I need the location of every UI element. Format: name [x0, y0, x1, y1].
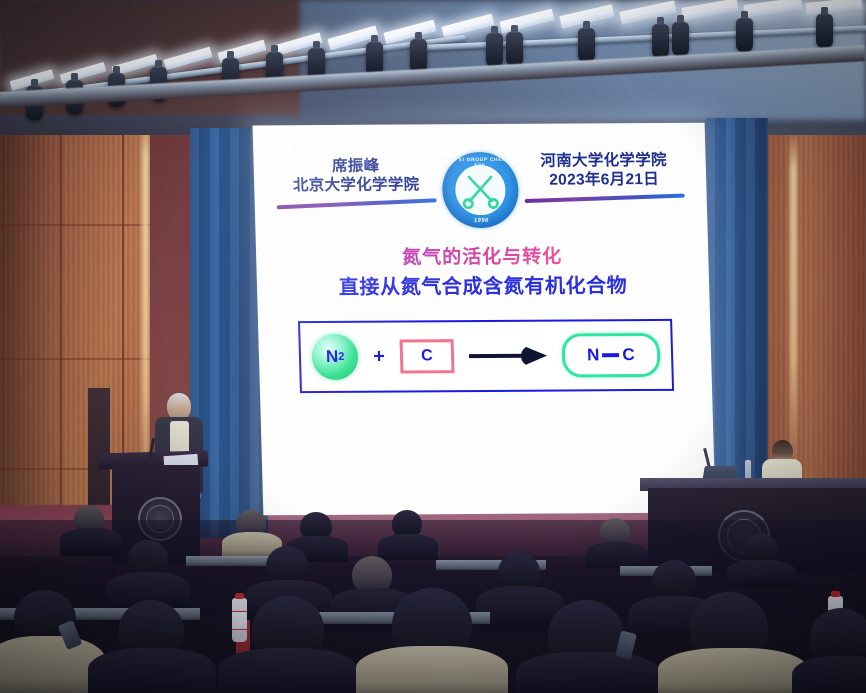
reaction-arrow-icon [469, 349, 547, 363]
n2-label: N [326, 347, 339, 367]
lecture-hall-photo: 席振峰 北京大学化学学院 PKU XI GROUP CHEM IS TRY 19… [0, 0, 866, 693]
nc-c-label: C [622, 345, 635, 365]
header-rule-left [277, 199, 437, 210]
slide-title-main: 氮气的活化与转化 [256, 241, 709, 271]
reaction-equation-box: N2 + C N C [298, 319, 674, 393]
presentation-slide: 席振峰 北京大学化学学院 PKU XI GROUP CHEM IS TRY 19… [253, 123, 716, 516]
speaker-name: 席振峰 [275, 156, 436, 176]
plus-operator: + [373, 345, 385, 368]
host-institution: 河南大学化学学院 [523, 151, 684, 171]
n2-subscript: 2 [338, 351, 344, 363]
stage-curtain-right [706, 118, 768, 518]
carbon-box: C [399, 339, 454, 373]
nc-n-label: N [587, 345, 600, 365]
nitrogen-molecule-node: N2 [312, 334, 359, 380]
pku-xi-group-logo: PKU XI GROUP CHEM IS TRY 1998 [441, 152, 519, 228]
slide-header: 席振峰 北京大学化学学院 PKU XI GROUP CHEM IS TRY 19… [253, 149, 707, 236]
wall-light-strip-right [790, 130, 797, 460]
header-rule-right [525, 194, 685, 203]
slide-title-sub: 直接从氮气合成含氮有机化合物 [257, 269, 710, 301]
presenter-head [167, 393, 191, 420]
water-bottle [232, 598, 247, 642]
wall-light-strip [142, 108, 149, 508]
water-bottle-table [745, 460, 751, 480]
slide-header-right: 河南大学化学学院 2023年6月21日 [523, 149, 684, 201]
nc-product-pill: N C [561, 333, 660, 378]
logo-year-text: 1998 [443, 218, 519, 224]
projection-screen: 席振峰 北京大学化学学院 PKU XI GROUP CHEM IS TRY 19… [253, 123, 716, 516]
scissors-icon [458, 168, 503, 212]
lecture-date: 2023年6月21日 [524, 170, 685, 190]
speaker-affiliation: 北京大学化学学院 [276, 176, 437, 196]
logo-top-text: PKU XI GROUP CHEM IS TRY [441, 156, 517, 168]
slide-header-left: 席振峰 北京大学化学学院 [275, 150, 437, 206]
nc-bond-icon [602, 353, 619, 357]
